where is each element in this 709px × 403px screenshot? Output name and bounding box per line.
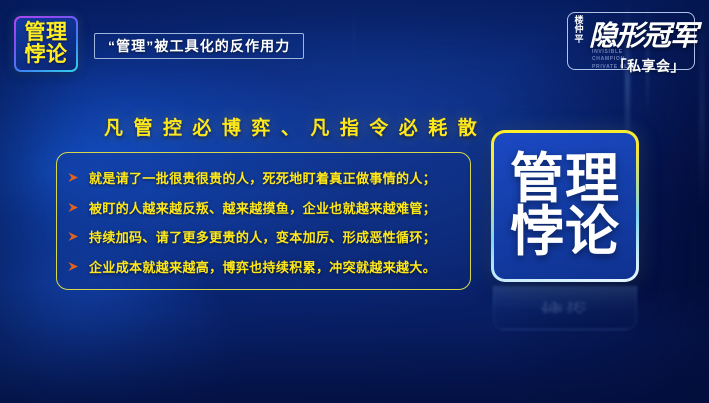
brand-vertical-name: 楼 仲 平 bbox=[571, 16, 587, 44]
list-item: 就是请了一批很贵很贵的人，死死地盯着真正做事情的人； bbox=[67, 168, 458, 187]
corner-badge-line2: 悖论 bbox=[25, 44, 68, 66]
brand-club-label: 「私享会」 bbox=[613, 56, 686, 76]
list-item: 企业成本就越来越高，博弈也持续积累，冲突就越来越大。 bbox=[67, 257, 458, 276]
brand-main-title: 隐形冠军 bbox=[589, 14, 697, 54]
list-item: 被盯的人越来越反叛、越来越摸鱼，企业也就越来越难管； bbox=[67, 198, 458, 217]
list-item: 持续加码、请了更多更贵的人，变本加厉、形成恶性循环； bbox=[67, 227, 458, 246]
arrow-bullet-icon bbox=[67, 171, 80, 184]
keyword-card-inner: 管理 悖论 bbox=[494, 133, 636, 279]
subtitle-box: “管理”被工具化的反作用力 bbox=[94, 33, 304, 59]
arrow-bullet-icon bbox=[67, 260, 80, 273]
bullet-text: 企业成本就越来越高，博弈也持续积累，冲突就越来越大。 bbox=[89, 257, 436, 276]
corner-badge-line1: 管理 bbox=[25, 22, 68, 44]
corner-logo-badge: 管理 悖论 bbox=[14, 16, 78, 72]
arrow-bullet-icon bbox=[67, 230, 80, 243]
keyword-card-line1: 管理 bbox=[510, 153, 620, 206]
brand-vertical-char-3: 平 bbox=[574, 35, 583, 44]
slide-canvas: 管理 悖论 “管理”被工具化的反作用力 楼 仲 平 隐形冠军 INVISIBLE… bbox=[0, 0, 709, 403]
keyword-card: 管理 悖论 bbox=[491, 130, 639, 282]
brand-logo: 楼 仲 平 隐形冠军 INVISIBLE CHAMPION PRIVATE CL… bbox=[551, 6, 699, 80]
subtitle-text: “管理”被工具化的反作用力 bbox=[108, 36, 290, 56]
bullet-text: 就是请了一批很贵很贵的人，死死地盯着真正做事情的人； bbox=[89, 168, 436, 187]
keyword-card-line2: 悖论 bbox=[510, 206, 620, 259]
arrow-bullet-icon bbox=[67, 201, 80, 214]
headline: 凡 管 控 必 博 弈 、 凡 指 令 必 耗 散 bbox=[104, 113, 479, 140]
bullet-text: 持续加码、请了更多更贵的人，变本加厉、形成恶性循环； bbox=[89, 227, 436, 246]
keyword-card-reflection-text: 悖论 bbox=[494, 299, 636, 317]
keyword-card-reflection: 悖论 bbox=[493, 286, 637, 330]
bullet-text: 被盯的人越来越反叛、越来越摸鱼，企业也就越来越难管； bbox=[89, 198, 436, 217]
bullet-panel: 就是请了一批很贵很贵的人，死死地盯着真正做事情的人； 被盯的人越来越反叛、越来越… bbox=[56, 152, 471, 290]
corner-logo-badge-inner: 管理 悖论 bbox=[16, 18, 76, 70]
